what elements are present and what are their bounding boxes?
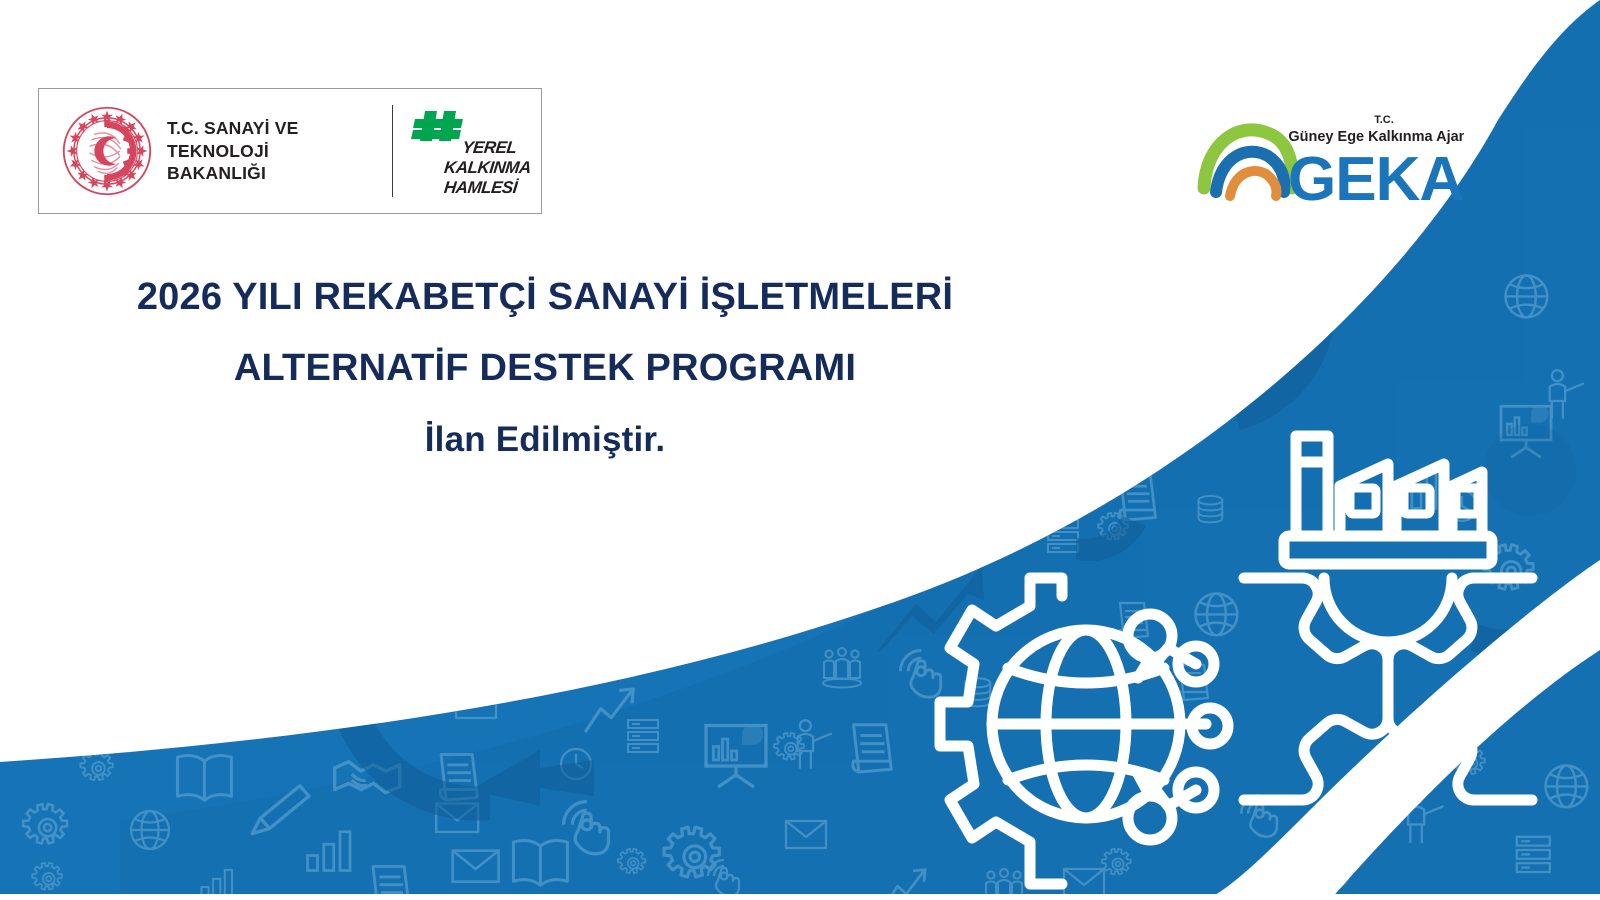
geka-tc: T.C. — [1374, 114, 1394, 126]
geka-swoosh — [1204, 130, 1292, 196]
page-title: 2026 YILI REKABETÇİ SANAYİ İŞLETMELERİ A… — [0, 262, 1090, 475]
headline-line-1: 2026 YILI REKABETÇİ SANAYİ İŞLETMELERİ — [0, 262, 1090, 333]
ministry-name: T.C. SANAYİ VE TEKNOLOJİ BAKANLIĞI — [167, 117, 372, 184]
logo-divider — [392, 105, 394, 197]
hamle-line1: YEREL — [461, 138, 517, 157]
headline-line-3: İlan Edilmiştir. — [0, 404, 1090, 475]
bottom-edge-strip — [0, 894, 1600, 900]
geka-subtitle: Güney Ege Kalkınma Ajansı — [1288, 129, 1464, 145]
geka-logo: T.C. Güney Ege Kalkınma Ajansı GEKA — [1196, 108, 1464, 204]
hamle-line2: KALKINMA — [443, 158, 532, 177]
turkish-ministry-emblem — [61, 105, 153, 197]
headline-line-2: ALTERNATİF DESTEK PROGRAMI — [0, 333, 1090, 404]
geka-wordmark: GEKA — [1288, 145, 1463, 204]
yerel-kalkinma-hamlesi-logo: YEREL KALKINMA HAMLESİ — [411, 103, 541, 199]
hamle-line3: HAMLESİ — [443, 178, 520, 197]
poster-canvas: T.C. SANAYİ VE TEKNOLOJİ BAKANLIĞI YEREL… — [0, 0, 1600, 900]
ministry-logo-box: T.C. SANAYİ VE TEKNOLOJİ BAKANLIĞI YEREL… — [38, 88, 542, 214]
